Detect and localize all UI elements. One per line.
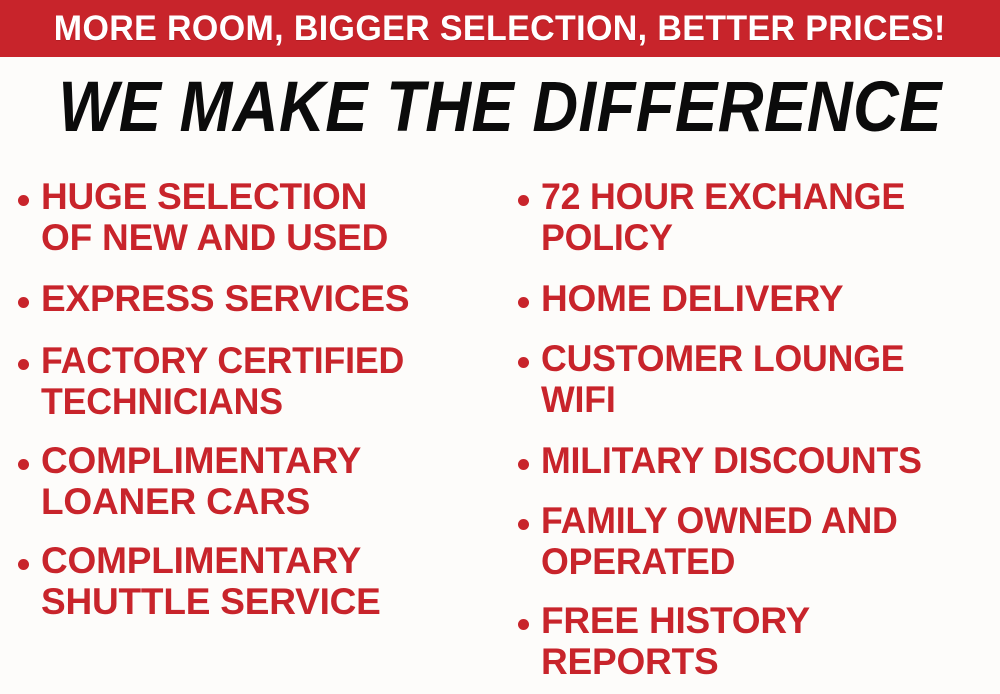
top-banner: MORE ROOM, BIGGER SELECTION, BETTER PRIC… xyxy=(0,0,1000,57)
list-item: MILITARY DISCOUNTS xyxy=(518,440,936,481)
list-item-label: COMPLIMENTARY SHUTTLE SERVICE xyxy=(41,540,381,622)
benefits-columns: HUGE SELECTION OF NEW AND USED EXPRESS S… xyxy=(0,158,1000,694)
list-item-label: MILITARY DISCOUNTS xyxy=(541,440,922,481)
list-item: 72 HOUR EXCHANGE POLICY xyxy=(518,176,918,258)
page-title: WE MAKE THE DIFFERENCE xyxy=(58,70,942,141)
list-item-label: FACTORY CERTIFIED TECHNICIANS xyxy=(41,340,404,422)
list-item-label: FREE HISTORY REPORTS xyxy=(541,600,810,682)
list-item-label: HUGE SELECTION OF NEW AND USED xyxy=(41,176,388,258)
list-item-label: FAMILY OWNED AND OPERATED xyxy=(541,500,898,582)
promotional-poster: MORE ROOM, BIGGER SELECTION, BETTER PRIC… xyxy=(0,0,1000,694)
bullet-dot-icon xyxy=(18,459,29,470)
bullet-dot-icon xyxy=(18,359,29,370)
bullet-dot-icon xyxy=(518,195,529,206)
list-item: COMPLIMENTARY LOANER CARS xyxy=(18,440,361,522)
bullet-dot-icon xyxy=(518,519,529,530)
list-item-label: HOME DELIVERY xyxy=(541,278,843,319)
list-item: EXPRESS SERVICES xyxy=(18,278,409,319)
bullet-dot-icon xyxy=(518,297,529,308)
bullet-dot-icon xyxy=(18,297,29,308)
list-item: CUSTOMER LOUNGE WIFI xyxy=(518,338,918,420)
bullet-dot-icon xyxy=(518,357,529,368)
list-item: FAMILY OWNED AND OPERATED xyxy=(518,500,911,582)
list-item-label: COMPLIMENTARY LOANER CARS xyxy=(41,440,361,522)
benefits-column-right: 72 HOUR EXCHANGE POLICY HOME DELIVERY CU… xyxy=(518,158,1000,694)
bullet-dot-icon xyxy=(518,619,529,630)
list-item: HUGE SELECTION OF NEW AND USED xyxy=(18,176,388,258)
list-item: COMPLIMENTARY SHUTTLE SERVICE xyxy=(18,540,381,622)
bullet-dot-icon xyxy=(18,559,29,570)
list-item-label: 72 HOUR EXCHANGE POLICY xyxy=(541,176,905,258)
list-item: FREE HISTORY REPORTS xyxy=(518,600,810,682)
bullet-dot-icon xyxy=(518,459,529,470)
bullet-dot-icon xyxy=(18,195,29,206)
list-item-label: EXPRESS SERVICES xyxy=(41,278,409,319)
list-item: FACTORY CERTIFIED TECHNICIANS xyxy=(18,340,417,422)
list-item: HOME DELIVERY xyxy=(518,278,843,319)
top-banner-text: MORE ROOM, BIGGER SELECTION, BETTER PRIC… xyxy=(54,11,946,46)
benefits-column-left: HUGE SELECTION OF NEW AND USED EXPRESS S… xyxy=(18,158,500,694)
headline-container: WE MAKE THE DIFFERENCE xyxy=(0,70,1000,142)
list-item-label: CUSTOMER LOUNGE WIFI xyxy=(541,338,904,420)
